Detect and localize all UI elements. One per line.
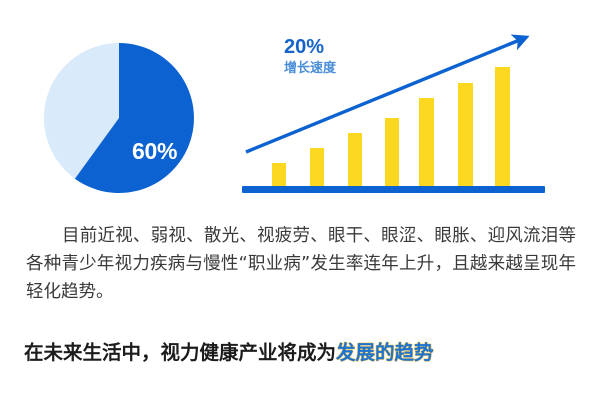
bar-chart-svg bbox=[230, 20, 550, 200]
bar-2 bbox=[310, 148, 324, 187]
bar-5 bbox=[419, 98, 434, 187]
headline-accent-text: 发展的趋势 bbox=[336, 341, 434, 364]
headline: 在未来生活中，视力健康产业将成为发展的趋势 bbox=[24, 340, 434, 366]
pie-label-60: 60% bbox=[132, 138, 177, 165]
pie-chart-svg bbox=[44, 43, 194, 193]
bar-1 bbox=[272, 163, 286, 187]
bar-3 bbox=[348, 133, 362, 187]
chart-baseline bbox=[242, 186, 545, 193]
infographic-page: 60% bbox=[0, 0, 600, 400]
charts-band: 60% bbox=[0, 0, 600, 215]
pie-chart: 60% bbox=[44, 43, 194, 193]
body-text-block: 目前近视、弱视、散光、视疲劳、眼干、眼涩、眼胀、迎风流泪等各种青少年视力疾病与慢… bbox=[0, 222, 600, 306]
bar-7 bbox=[495, 67, 510, 187]
growth-subtitle-label: 增长速度 bbox=[284, 60, 336, 75]
bar-6 bbox=[458, 83, 473, 187]
headline-plain-text: 在未来生活中，视力健康产业将成为 bbox=[24, 341, 336, 364]
bar-chart bbox=[230, 20, 550, 200]
bar-4 bbox=[385, 118, 399, 187]
description-paragraph: 目前近视、弱视、散光、视疲劳、眼干、眼涩、眼胀、迎风流泪等各种青少年视力疾病与慢… bbox=[0, 222, 600, 306]
growth-callout: 20% 增长速度 bbox=[284, 36, 336, 75]
growth-percent-label: 20% bbox=[284, 36, 336, 60]
